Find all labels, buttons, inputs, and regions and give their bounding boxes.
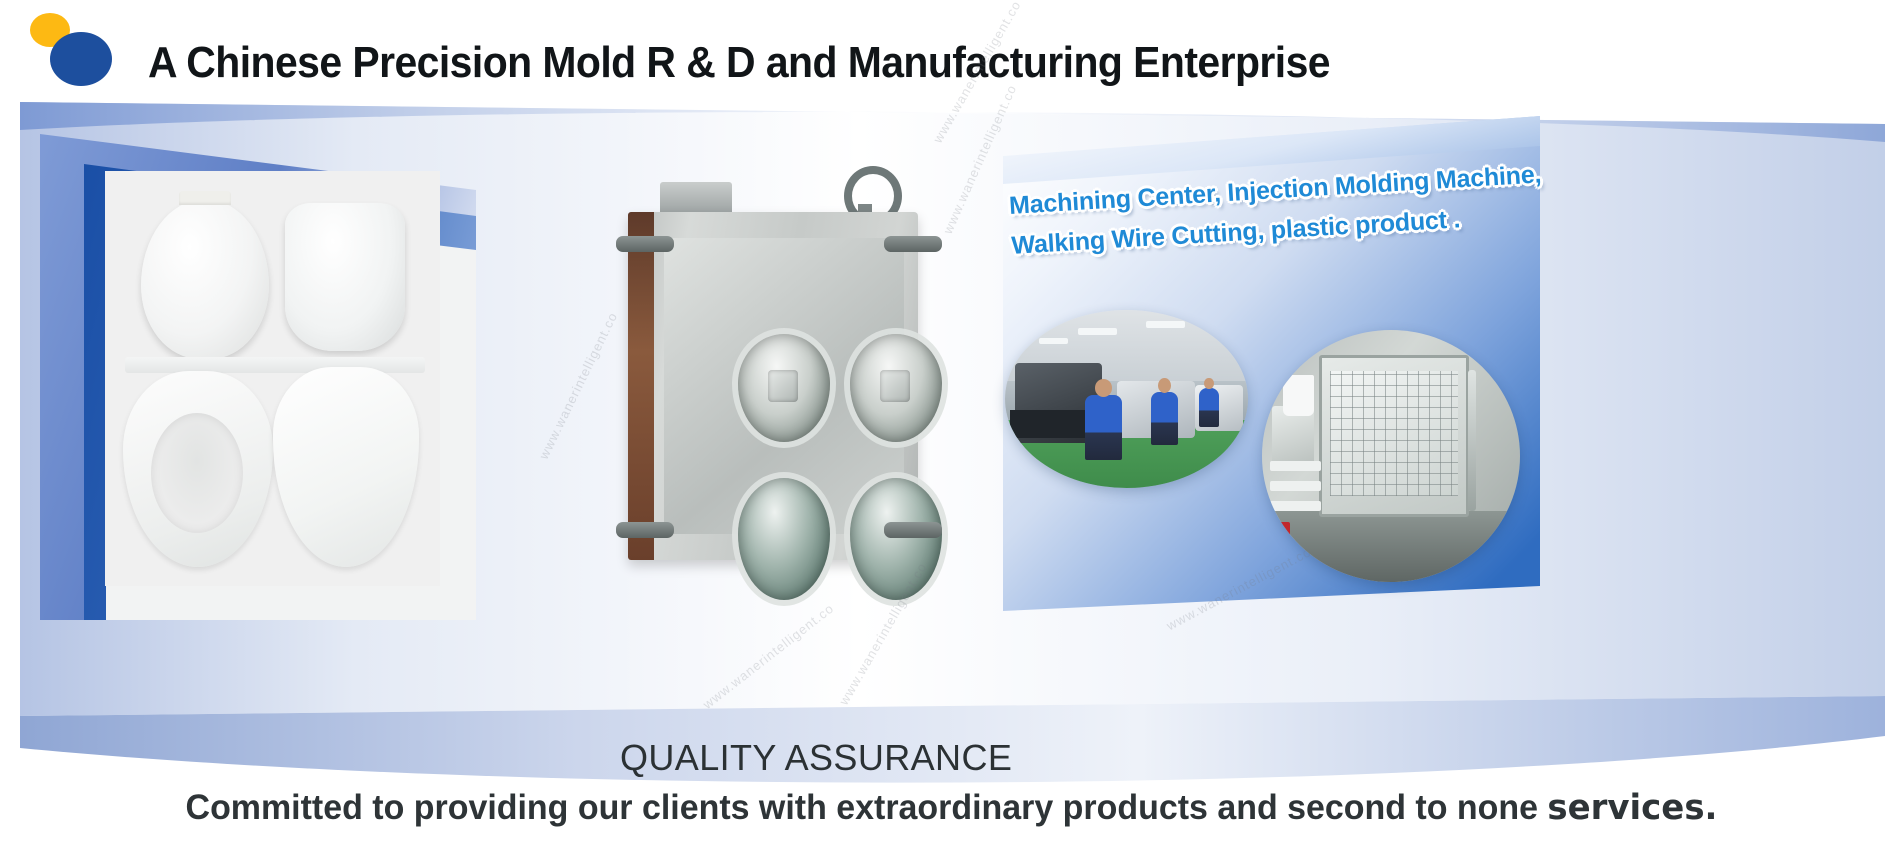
banner-headline: A Chinese Precision Mold R & D and Manuf… bbox=[148, 38, 1330, 88]
mold-cavity-top-right bbox=[850, 334, 942, 442]
marketing-banner: A Chinese Precision Mold R & D and Manuf… bbox=[0, 0, 1903, 842]
mold-top-block bbox=[660, 182, 732, 216]
cnc-window-grid bbox=[1330, 371, 1457, 496]
workshop-operator bbox=[1151, 392, 1178, 445]
workshop-photo bbox=[1005, 310, 1248, 488]
ceiling-light-icon bbox=[1146, 321, 1185, 328]
guide-pin-bottom-right bbox=[884, 522, 942, 538]
cnc-shelf bbox=[1270, 501, 1322, 511]
quality-assurance-label: QUALITY ASSURANCE bbox=[620, 737, 1012, 779]
mold-cavity-plate bbox=[664, 238, 904, 534]
toilet-seat-lid-square bbox=[285, 203, 405, 351]
cnc-enclosure-door bbox=[1319, 355, 1469, 517]
cnc-door-handle bbox=[1468, 370, 1476, 511]
ceiling-light-icon bbox=[1039, 338, 1068, 343]
cnc-shelf bbox=[1270, 461, 1322, 471]
guide-pin-top-left bbox=[616, 236, 674, 252]
cnc-machine-photo bbox=[1262, 330, 1520, 582]
logo-blue-ellipse-icon bbox=[50, 32, 112, 86]
cavity-core-insert bbox=[768, 370, 798, 402]
ceiling-light-icon bbox=[1078, 328, 1117, 335]
toilet-seat-ring bbox=[123, 371, 273, 567]
cnc-shelf bbox=[1270, 481, 1322, 491]
banner-tagline: Committed to providing our clients with … bbox=[29, 788, 1875, 828]
workshop-operator bbox=[1085, 395, 1121, 459]
mold-photo bbox=[608, 160, 938, 580]
toilet-seat-product-photo bbox=[105, 171, 440, 586]
tagline-emphasis: services. bbox=[1547, 788, 1717, 828]
cnc-hanging-cloth bbox=[1283, 375, 1314, 415]
toilet-seat-lid-oval bbox=[141, 199, 269, 359]
guide-pin-bottom-left bbox=[616, 522, 674, 538]
workshop-operator bbox=[1199, 388, 1218, 427]
mold-side-plate bbox=[628, 212, 654, 560]
cavity-core-insert bbox=[880, 370, 910, 402]
cnc-base bbox=[1262, 511, 1520, 582]
company-logo bbox=[18, 8, 128, 98]
cnc-emergency-marker bbox=[1277, 522, 1290, 552]
mold-cavity-top-left bbox=[738, 334, 830, 442]
toilet-seat-bowl-cover bbox=[273, 367, 419, 567]
tagline-main: Committed to providing our clients with … bbox=[186, 788, 1548, 827]
guide-pin-top-right bbox=[884, 236, 942, 252]
